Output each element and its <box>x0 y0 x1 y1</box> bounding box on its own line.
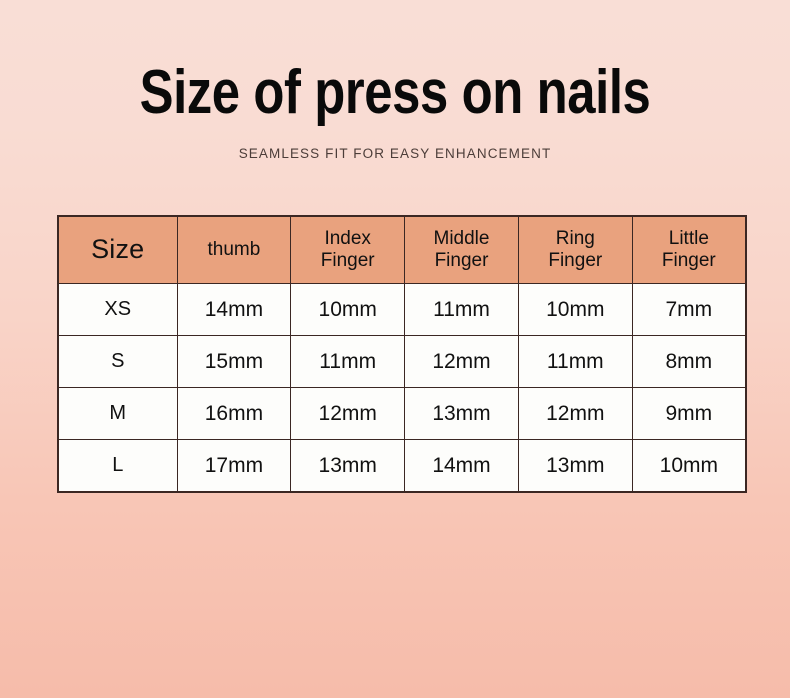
cell-index-finger: 11mm <box>291 336 405 388</box>
cell-middle-finger: 13mm <box>405 388 519 440</box>
heading-block: Size of press on nails SEAMLESS FIT FOR … <box>0 62 790 161</box>
cell-size: S <box>58 336 177 388</box>
size-chart-container: Size thumb Index Finger Middle Finger Ri <box>57 215 745 493</box>
cell-middle-finger: 11mm <box>405 284 519 336</box>
page-subtitle: SEAMLESS FIT FOR EASY ENHANCEMENT <box>0 146 790 161</box>
table-header-row: Size thumb Index Finger Middle Finger Ri <box>58 216 746 284</box>
cell-ring-finger: 10mm <box>518 284 632 336</box>
column-header-middle-finger-line-1: Middle <box>407 228 516 250</box>
column-header-thumb: thumb <box>177 216 291 284</box>
cell-index-finger: 12mm <box>291 388 405 440</box>
page-title: Size of press on nails <box>71 62 719 124</box>
table-row: XS 14mm 10mm 11mm 10mm 7mm <box>58 284 746 336</box>
cell-ring-finger: 12mm <box>518 388 632 440</box>
table-body: XS 14mm 10mm 11mm 10mm 7mm S 15mm 11mm 1… <box>58 284 746 493</box>
size-chart-table: Size thumb Index Finger Middle Finger Ri <box>57 215 747 493</box>
column-header-little-finger-line-1: Little <box>635 228 743 250</box>
cell-thumb: 17mm <box>177 440 291 493</box>
cell-little-finger: 9mm <box>632 388 746 440</box>
column-header-index-finger: Index Finger <box>291 216 405 284</box>
cell-thumb: 14mm <box>177 284 291 336</box>
cell-little-finger: 8mm <box>632 336 746 388</box>
column-header-index-finger-line-2: Finger <box>293 250 402 272</box>
table-header: Size thumb Index Finger Middle Finger Ri <box>58 216 746 284</box>
table-row: L 17mm 13mm 14mm 13mm 10mm <box>58 440 746 493</box>
poster-root: Size of press on nails SEAMLESS FIT FOR … <box>0 0 790 698</box>
cell-middle-finger: 14mm <box>405 440 519 493</box>
cell-ring-finger: 11mm <box>518 336 632 388</box>
cell-little-finger: 7mm <box>632 284 746 336</box>
column-header-little-finger-line-2: Finger <box>635 250 743 272</box>
cell-size: L <box>58 440 177 493</box>
column-header-middle-finger-line-2: Finger <box>407 250 516 272</box>
column-header-thumb-line-1: thumb <box>180 239 289 261</box>
column-header-size-line-1: Size <box>61 234 175 265</box>
table-row: S 15mm 11mm 12mm 11mm 8mm <box>58 336 746 388</box>
cell-index-finger: 10mm <box>291 284 405 336</box>
table-row: M 16mm 12mm 13mm 12mm 9mm <box>58 388 746 440</box>
cell-middle-finger: 12mm <box>405 336 519 388</box>
column-header-middle-finger: Middle Finger <box>405 216 519 284</box>
column-header-ring-finger: Ring Finger <box>518 216 632 284</box>
cell-size: XS <box>58 284 177 336</box>
cell-size: M <box>58 388 177 440</box>
cell-thumb: 16mm <box>177 388 291 440</box>
column-header-ring-finger-line-2: Finger <box>521 250 630 272</box>
column-header-ring-finger-line-1: Ring <box>521 228 630 250</box>
cell-index-finger: 13mm <box>291 440 405 493</box>
column-header-index-finger-line-1: Index <box>293 228 402 250</box>
cell-thumb: 15mm <box>177 336 291 388</box>
column-header-little-finger: Little Finger <box>632 216 746 284</box>
cell-little-finger: 10mm <box>632 440 746 493</box>
cell-ring-finger: 13mm <box>518 440 632 493</box>
column-header-size: Size <box>58 216 177 284</box>
